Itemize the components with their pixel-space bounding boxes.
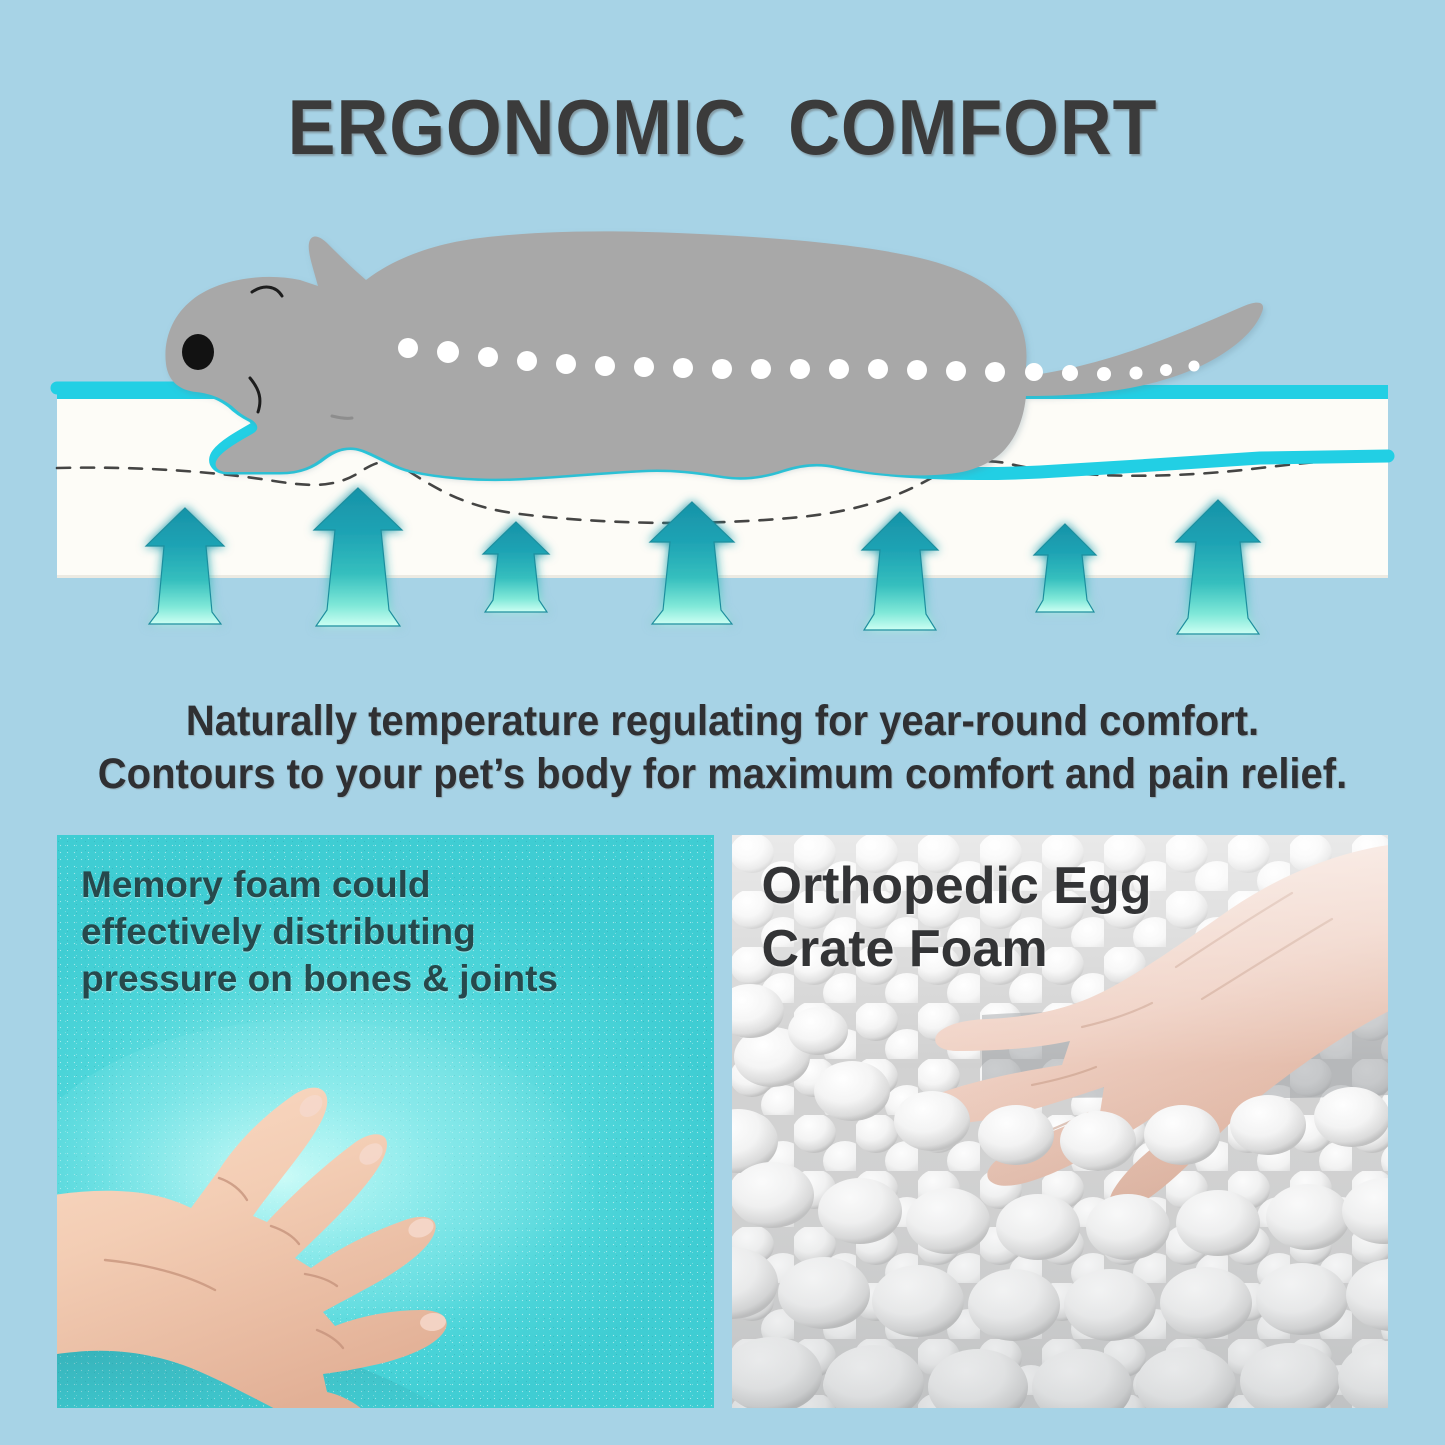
page-title: ERGONOMIC COMFORT: [58, 82, 1387, 173]
egg-crate-foam-panel: Orthopedic Egg Crate Foam: [732, 835, 1389, 1408]
ergonomic-support-diagram: [0, 200, 1445, 650]
feature-panels: Memory foam could effectively distributi…: [57, 835, 1388, 1408]
body-copy-line-2: Contours to your pet’s body for maximum …: [51, 748, 1395, 801]
egg-crate-caption-line-2: Crate Foam: [762, 918, 1353, 981]
dog-nose: [182, 334, 214, 370]
memory-foam-caption-line-2: effectively distributing: [81, 908, 685, 955]
body-copy: Naturally temperature regulating for yea…: [51, 695, 1395, 801]
hero-svg: [0, 200, 1445, 650]
memory-foam-panel: Memory foam could effectively distributi…: [57, 835, 714, 1408]
mattress-bottom-edge: [57, 575, 1388, 578]
egg-crate-caption: Orthopedic Egg Crate Foam: [762, 855, 1353, 981]
egg-crate-caption-line-1: Orthopedic Egg: [762, 855, 1353, 918]
memory-foam-caption-line-1: Memory foam could: [81, 861, 685, 908]
hand-on-memory-foam-photo: [57, 1010, 665, 1408]
body-copy-line-1: Naturally temperature regulating for yea…: [51, 695, 1395, 748]
memory-foam-caption: Memory foam could effectively distributi…: [81, 861, 685, 1002]
memory-foam-caption-line-3: pressure on bones & joints: [81, 955, 685, 1002]
